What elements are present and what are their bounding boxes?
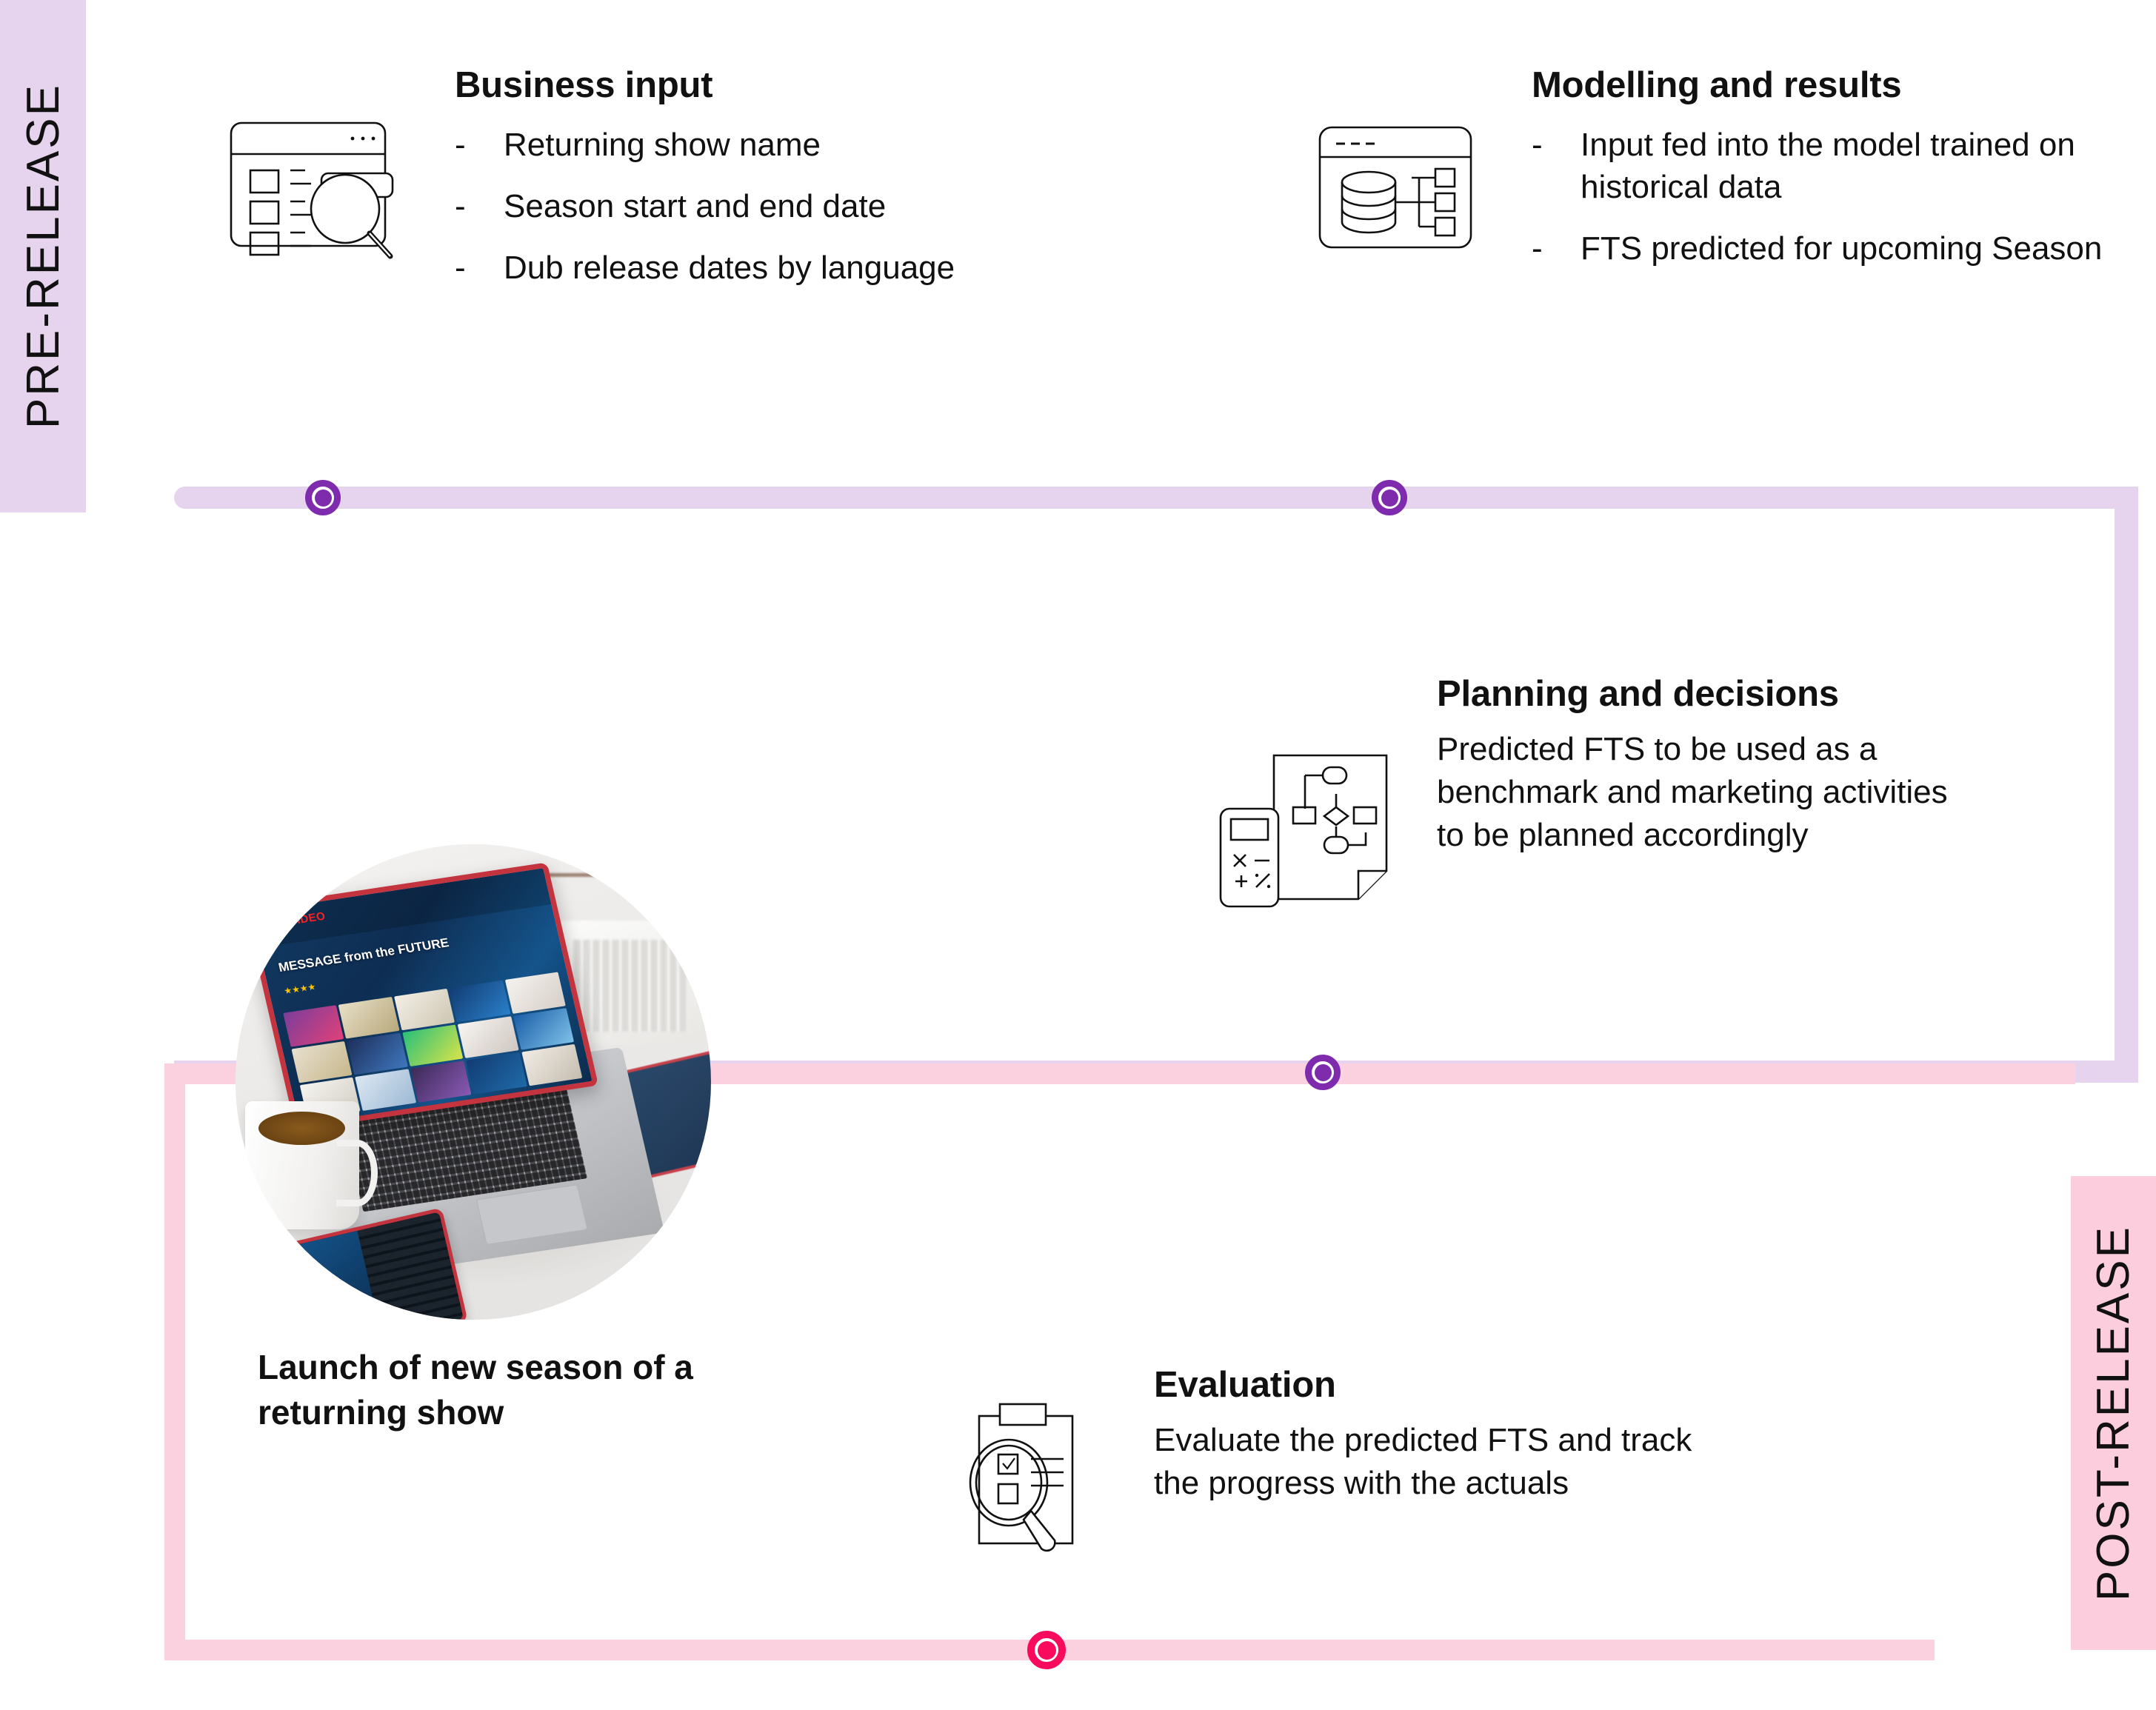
milestone-dot-planning[interactable] <box>1305 1055 1341 1090</box>
phase-label-pre-release: PRE-RELEASE <box>17 83 70 429</box>
step-title-business-input: Business input <box>455 65 1047 106</box>
bullet-dash: - <box>455 185 504 227</box>
launch-caption-block: Launch of new season of a returning show <box>258 1345 821 1435</box>
bullet-text: Season start and end date <box>504 185 1047 227</box>
bullet-dash: - <box>1532 227 1581 270</box>
bullet-item: - FTS predicted for upcoming Season <box>1532 227 2139 270</box>
milestone-dot-launch[interactable] <box>1027 1631 1066 1669</box>
phase-band-pre-release: PRE-RELEASE <box>0 0 86 512</box>
laptop-streaming-photo: MY VIDEO MESSAGE from the FUTURE ★★★★ <box>236 844 711 1320</box>
streaming-rating: ★★★★ <box>283 982 317 997</box>
step-business-input: Business input - Returning show name - S… <box>455 65 1047 308</box>
step-title-planning: Planning and decisions <box>1437 674 1955 715</box>
bullet-dash: - <box>455 124 504 166</box>
timeline-track-pre-top <box>174 487 2115 509</box>
step-title-modelling: Modelling and results <box>1532 65 2139 106</box>
step-modelling-and-results: Modelling and results - Input fed into t… <box>1532 65 2139 289</box>
bullet-text: Dub release dates by language <box>504 247 1047 289</box>
laptop-screen: MY VIDEO MESSAGE from the FUTURE ★★★★ <box>244 863 598 1131</box>
checklist-magnifier-icon <box>963 1400 1104 1560</box>
diagram-canvas: PRE-RELEASE POST-RELEASE <box>0 0 2156 1710</box>
step-body-evaluation: Evaluate the predicted FTS and track the… <box>1154 1419 1717 1505</box>
milestone-dot-core <box>1315 1064 1332 1081</box>
milestone-dot-core <box>1381 490 1398 507</box>
bullet-item: - Input fed into the model trained on hi… <box>1532 124 2139 208</box>
step-bullets-modelling: - Input fed into the model trained on hi… <box>1532 124 2139 270</box>
bullet-dash: - <box>455 247 504 289</box>
database-schema-icon <box>1317 124 1474 261</box>
timeline-track-post-left <box>164 1063 185 1660</box>
step-planning-and-decisions: Planning and decisions Predicted FTS to … <box>1437 674 1955 857</box>
coffee-mug <box>245 1101 359 1229</box>
streaming-hero-title: MESSAGE from the FUTURE <box>277 935 450 975</box>
laptop-trackpad <box>476 1184 588 1245</box>
bullet-text: Input fed into the model trained on hist… <box>1581 124 2139 208</box>
phase-band-post-release: POST-RELEASE <box>2071 1176 2156 1650</box>
step-bullets-business-input: - Returning show name - Season start and… <box>455 124 1047 290</box>
step-body-planning: Predicted FTS to be used as a benchmark … <box>1437 728 1955 857</box>
calculator-flowchart-icon <box>1213 745 1400 926</box>
launch-photo: MY VIDEO MESSAGE from the FUTURE ★★★★ <box>236 844 711 1320</box>
milestone-dot-modelling[interactable] <box>1372 480 1407 515</box>
milestone-dot-business-input[interactable] <box>305 480 341 515</box>
launch-caption: Launch of new season of a returning show <box>258 1345 821 1435</box>
bullet-item: - Returning show name <box>455 124 1047 166</box>
mug-handle <box>336 1140 377 1207</box>
bullet-item: - Dub release dates by language <box>455 247 1047 289</box>
bullet-dash: - <box>1532 124 1581 208</box>
phase-label-post-release: POST-RELEASE <box>2087 1225 2140 1601</box>
milestone-dot-core <box>1038 1641 1056 1660</box>
timeline-track-pre-right <box>2115 487 2138 1083</box>
bullet-item: - Season start and end date <box>455 185 1047 227</box>
step-evaluation: Evaluation Evaluate the predicted FTS an… <box>1154 1365 1717 1505</box>
step-title-evaluation: Evaluation <box>1154 1365 1717 1406</box>
bullet-text: FTS predicted for upcoming Season <box>1581 227 2139 270</box>
bullet-text: Returning show name <box>504 124 1047 166</box>
browser-search-icon <box>228 118 400 267</box>
tea-surface <box>258 1112 345 1145</box>
milestone-dot-core <box>315 490 332 507</box>
